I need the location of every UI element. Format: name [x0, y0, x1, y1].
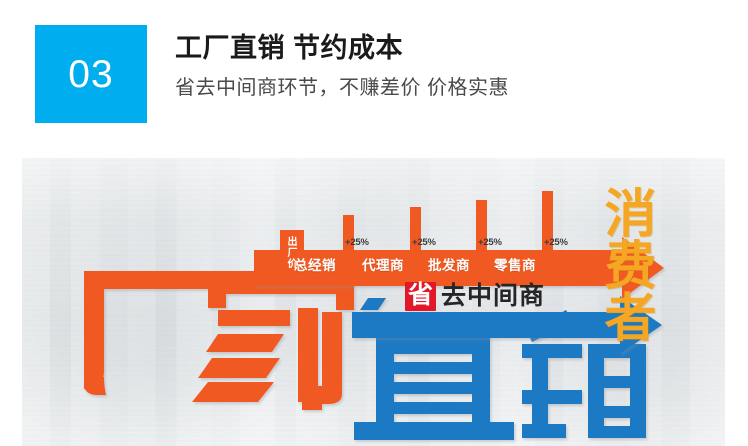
section-number-badge: 03	[35, 25, 147, 123]
save-prefix: 省	[405, 282, 436, 311]
promo-page: 03 工厂直销 节约成本 省去中间商环节，不赚差价 价格实惠	[0, 0, 748, 446]
chain-label-1: 代理商	[362, 259, 404, 273]
markup-value-0: +25%	[345, 238, 369, 248]
chain-label-2: 批发商	[428, 259, 470, 273]
markup-bars	[343, 191, 553, 250]
markup-value-2: +25%	[478, 238, 502, 248]
save-middleman-callout: 省 去中间商	[405, 282, 545, 311]
hero-illustration: 出厂价 总经销 代理商 批发商 零售商 +25% +25% +25% +25% …	[22, 158, 725, 446]
save-rest: 去中间商	[441, 284, 545, 309]
chain-label-3: 零售商	[494, 259, 536, 273]
markup-value-1: +25%	[412, 238, 436, 248]
section-header: 03 工厂直销 节约成本 省去中间商环节，不赚差价 价格实惠	[0, 0, 748, 158]
consumer-label: 消费者	[598, 186, 651, 342]
header-text-group: 工厂直销 节约成本 省去中间商环节，不赚差价 价格实惠	[175, 32, 715, 101]
page-subtitle: 省去中间商环节，不赚差价 价格实惠	[175, 76, 715, 101]
section-number: 03	[68, 55, 113, 94]
markup-value-3: +25%	[544, 238, 568, 248]
page-title: 工厂直销 节约成本	[175, 32, 715, 64]
chain-label-0: 总经销	[294, 259, 336, 273]
